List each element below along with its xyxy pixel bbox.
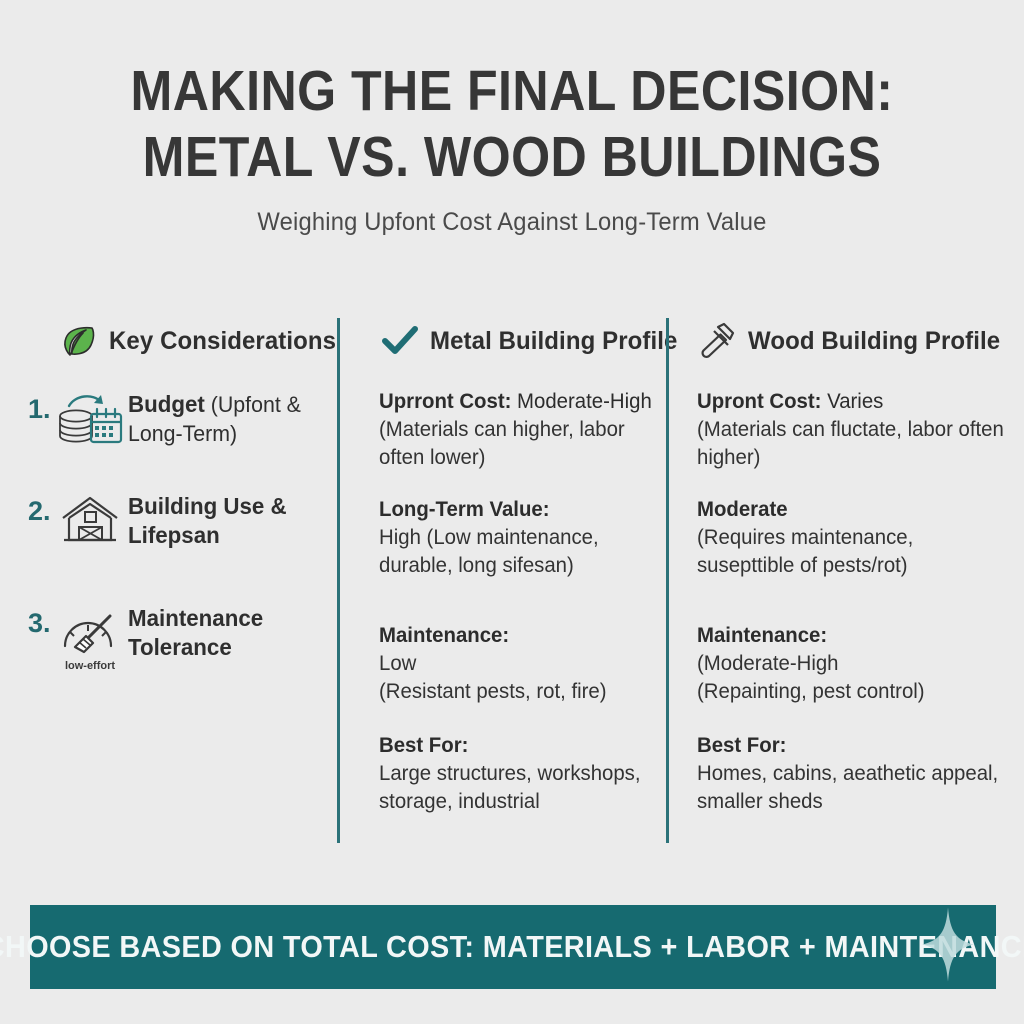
consideration-label-bold: Budget (128, 391, 205, 417)
gauge-broom-icon: low-effort (54, 602, 126, 656)
consideration-label: Building Use & Lifepsan (128, 490, 331, 550)
profile-lead: Upront Cost: Varies (697, 388, 1014, 416)
profile-body: (Materials can higher, labor often lower… (379, 416, 657, 472)
profile-body: (Moderate-High (Repainting, pest control… (697, 650, 1014, 706)
profile-block: Best For: Large structures, workshops, s… (379, 732, 666, 816)
profile-block: Maintenance: Low (Resistant pests, rot, … (379, 622, 666, 706)
profile-lead: Best For: (379, 732, 657, 760)
column-heading-label: Key Considerations (109, 327, 336, 356)
profile-block: Best For: Homes, cabins, aeathetic appea… (697, 732, 1024, 816)
profile-lead-value: Moderate-High (511, 390, 651, 413)
column-header-key-considerations: Key Considerations (28, 318, 337, 364)
profile-block: Moderate (Requires maintenance, suseptti… (697, 496, 1024, 580)
consideration-label-bold: Maintenance Tolerance (128, 605, 263, 660)
hammer-icon (697, 321, 739, 361)
profile-lead: Maintenance: (697, 622, 1014, 650)
page-title-line-1: Making the Final Decision: (61, 58, 962, 124)
consideration-label: Maintenance Tolerance (128, 602, 331, 662)
sparkle-icon (922, 908, 974, 987)
profile-lead-label: Maintenance: (379, 624, 509, 647)
profile-block: Long-Term Value: High (Low maintenance, … (379, 496, 666, 580)
profile-lead-label: Best For: (379, 734, 468, 757)
barn-icon (54, 490, 126, 548)
column-heading-label: Metal Building Profile (430, 327, 677, 356)
profile-body: Large structures, workshops, storage, in… (379, 760, 657, 816)
column-wood-profile: Wood Building Profile Upront Cost: Varie… (666, 318, 1024, 843)
consideration-label: Budget (Upfont & Long-Term) (128, 388, 331, 448)
profile-body: Homes, cabins, aeathetic appeal, smaller… (697, 760, 1014, 816)
leaf-icon (58, 321, 100, 361)
profile-lead: Moderate (697, 496, 1014, 524)
profile-lead-label: Upront Cost: (697, 390, 821, 413)
column-metal-profile: Metal Building Profile Uprront Cost: Mod… (337, 318, 666, 843)
header: Making the Final Decision: Metal vs. Woo… (0, 0, 1024, 237)
coins-calendar-icon (54, 388, 126, 446)
profile-body: (Materials can fluctate, labor often hig… (697, 416, 1014, 472)
column-header-wood-profile: Wood Building Profile (697, 318, 1024, 364)
columns-container: Key Considerations 1. (0, 318, 1024, 843)
profile-lead-value: Varies (821, 390, 883, 413)
profile-lead-label: Uprront Cost: (379, 390, 511, 413)
page-title-line-2: Metal vs. Wood Buildings (61, 124, 962, 190)
check-icon (379, 321, 421, 361)
consideration-label-bold: Building Use & Lifepsan (128, 493, 287, 548)
profile-block: Maintenance: (Moderate-High (Repainting,… (697, 622, 1024, 706)
profile-body: (Requires maintenance, susepttible of pe… (697, 524, 1014, 580)
profile-body: High (Low maintenance, durable, long sif… (379, 524, 657, 580)
profile-lead-label: Best For: (697, 734, 786, 757)
column-key-considerations: Key Considerations 1. (0, 318, 337, 843)
banner-text: Choose Based on Total Cost: Materials + … (0, 929, 1024, 965)
consideration-number: 3. (28, 602, 54, 639)
profile-lead: Maintenance: (379, 622, 657, 650)
profile-lead-label: Long-Term Value: (379, 498, 550, 521)
column-heading-label: Wood Building Profile (748, 327, 1000, 356)
profile-lead-label: Maintenance: (697, 624, 827, 647)
bottom-banner: Choose Based on Total Cost: Materials + … (30, 905, 996, 989)
profile-body: Low (Resistant pests, rot, fire) (379, 650, 657, 706)
profile-block: Uprront Cost: Moderate-High (Materials c… (379, 388, 666, 472)
profile-lead: Uprront Cost: Moderate-High (379, 388, 657, 416)
consideration-item-budget: 1. (28, 388, 337, 448)
consideration-item-maintenance: 3. low-effort Maintenance Tolerance (28, 602, 337, 662)
page-subtitle: Weighing Upfont Cost Against Long-Term V… (26, 208, 999, 237)
profile-block: Upront Cost: Varies (Materials can fluct… (697, 388, 1024, 472)
consideration-number: 1. (28, 388, 54, 425)
profile-lead: Best For: (697, 732, 1014, 760)
icon-caption-low-effort: low-effort (65, 660, 115, 672)
consideration-item-building-use: 2. Building Use & Lifepsan (28, 490, 337, 550)
profile-lead: Long-Term Value: (379, 496, 657, 524)
profile-lead-label: Moderate (697, 498, 788, 521)
column-header-metal-profile: Metal Building Profile (379, 318, 666, 364)
consideration-number: 2. (28, 490, 54, 527)
